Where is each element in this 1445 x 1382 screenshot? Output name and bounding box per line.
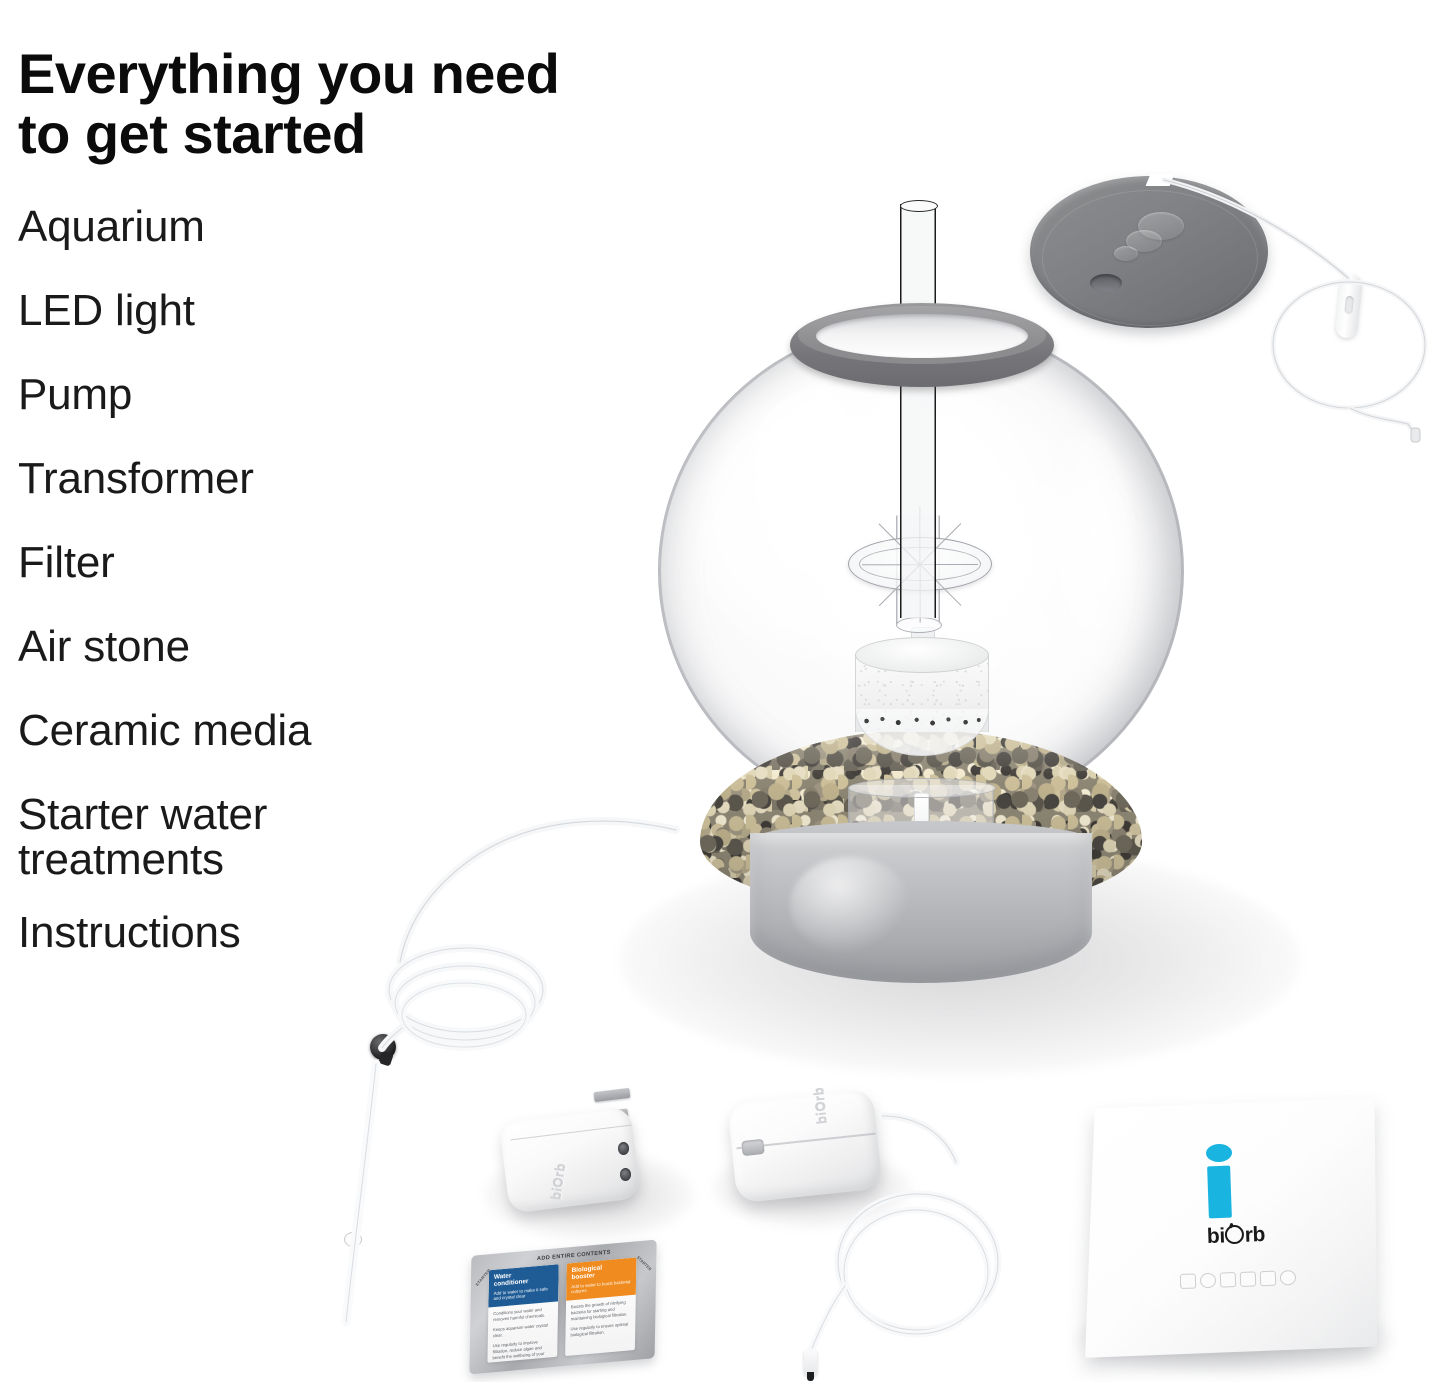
infographic-canvas: Everything you need to get started Aquar… bbox=[0, 0, 1445, 1378]
valve-nub bbox=[378, 1050, 393, 1066]
water-conditioner-pane: Water conditioner Add to water to make i… bbox=[487, 1264, 558, 1363]
led-light-lid bbox=[1030, 176, 1268, 328]
booklet-icon-cube bbox=[1240, 1271, 1257, 1287]
cartridge-bottom bbox=[855, 709, 989, 756]
list-item-led-light: LED light bbox=[18, 289, 438, 373]
booklet-icon-flow bbox=[1260, 1271, 1277, 1287]
pane-body-p3: Use regularly to improve filtration, red… bbox=[492, 1338, 552, 1363]
globe-collar bbox=[790, 303, 1054, 387]
cartridge-top bbox=[855, 637, 989, 673]
info-icon-stem bbox=[1207, 1166, 1232, 1219]
pane-body-p1: Conditions your water and removes harmfu… bbox=[493, 1306, 553, 1323]
lid-cable-port bbox=[1090, 274, 1122, 292]
sachet-foil: ADD ENTIRE CONTENTS STARTER STARTER Wate… bbox=[469, 1240, 656, 1375]
list-item-line-1: Starter water bbox=[18, 790, 267, 839]
wordmark-suffix: rb bbox=[1244, 1223, 1265, 1247]
collar-opening bbox=[816, 314, 1028, 358]
transformer-body bbox=[499, 1106, 641, 1213]
air-stone-tip bbox=[344, 1232, 362, 1247]
bubble-dimple-small bbox=[1114, 246, 1138, 261]
list-item-aquarium: Aquarium bbox=[18, 205, 438, 289]
sachet-corner-right: STARTER bbox=[636, 1255, 653, 1272]
lid-edge bbox=[1042, 190, 1258, 326]
biological-booster-pane: Biological booster Add to water to boost… bbox=[565, 1257, 636, 1356]
power-cable-pin bbox=[807, 1372, 814, 1381]
air-pump-brand-text: biOrb bbox=[811, 1086, 830, 1125]
water-conditioner-body: Conditions your water and removes harmfu… bbox=[487, 1301, 558, 1363]
list-item-transformer: Transformer bbox=[18, 457, 438, 541]
pane-body-p2: Keeps aquarium water crystal clear. bbox=[493, 1322, 553, 1339]
plug-pin-top bbox=[594, 1088, 631, 1102]
biological-booster-body: Boosts the growth of nitrifying bacteria… bbox=[565, 1294, 636, 1347]
lid-cable-notch bbox=[1146, 174, 1175, 186]
water-conditioner-header: Water conditioner Add to water to make i… bbox=[488, 1264, 558, 1307]
headline-line-1: Everything you need bbox=[18, 44, 878, 104]
booklet-icon-globe bbox=[1200, 1273, 1217, 1289]
headline-line-2: to get started bbox=[18, 104, 878, 164]
riser-tube bbox=[900, 204, 936, 618]
transformer-socket-a bbox=[618, 1142, 629, 1155]
air-pump-product: biOrb bbox=[726, 1082, 1026, 1382]
wordmark-prefix: bi bbox=[1207, 1224, 1226, 1248]
inline-switch[interactable] bbox=[1335, 273, 1364, 339]
instruction-booklet: birb bbox=[1084, 1096, 1410, 1378]
switch-button[interactable] bbox=[1344, 296, 1354, 315]
starter-water-treatment-sachet: ADD ENTIRE CONTENTS STARTER STARTER Wate… bbox=[470, 1242, 670, 1378]
pane-body-p2: Use regularly to ensure optimal biologic… bbox=[570, 1321, 630, 1338]
biorb-wordmark: birb bbox=[1188, 1222, 1285, 1249]
biological-booster-header: Biological booster Add to water to boost… bbox=[566, 1257, 636, 1300]
transformer-product: biOrb bbox=[498, 1088, 668, 1238]
booklet-icon-tube bbox=[1220, 1272, 1237, 1288]
booklet-icon-halo bbox=[1280, 1270, 1297, 1286]
led-light-product bbox=[1020, 168, 1440, 458]
wordmark-o-ring-icon bbox=[1225, 1225, 1245, 1245]
base-sheen bbox=[790, 857, 910, 953]
transformer-socket-b bbox=[620, 1168, 631, 1181]
filter-cartridge bbox=[855, 637, 987, 757]
booklet-icon-tank bbox=[1180, 1273, 1197, 1289]
filter-housing-rim bbox=[848, 778, 996, 798]
list-item-pump: Pump bbox=[18, 373, 438, 457]
list-item-air-stone: Air stone bbox=[18, 625, 438, 709]
cartridge-carbon-speckle bbox=[856, 711, 988, 731]
riser-tube-rim bbox=[900, 200, 938, 212]
list-item-filter: Filter bbox=[18, 541, 438, 625]
pane-body-p1: Boosts the growth of nitrifying bacteria… bbox=[571, 1299, 631, 1323]
pump-air-nozzle bbox=[741, 1139, 764, 1156]
page-title: Everything you need to get started bbox=[18, 44, 878, 165]
list-item-ceramic-media: Ceramic media bbox=[18, 709, 438, 793]
